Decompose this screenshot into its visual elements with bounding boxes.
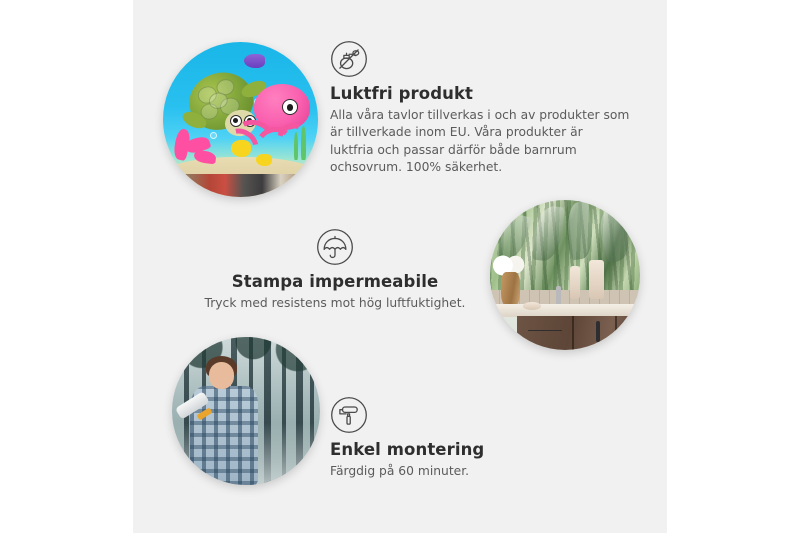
product-image-ocean-mural bbox=[163, 42, 318, 197]
faucet bbox=[556, 286, 561, 306]
fish-purple bbox=[244, 54, 266, 68]
forest-canopy bbox=[172, 337, 320, 393]
product-image-bathroom-palm-wallpaper bbox=[490, 200, 640, 350]
wood-vanity-cabinet bbox=[517, 316, 640, 351]
feature-body: Färgdig på 60 minuter. bbox=[330, 463, 590, 480]
feature-heading: Stampa impermeabile bbox=[200, 272, 470, 291]
feature-body: Tryck med resistens mot hög luftfuktighe… bbox=[200, 295, 470, 312]
soap-dish bbox=[523, 302, 541, 310]
feature-heading: Luktfri produkt bbox=[330, 84, 630, 103]
product-image-forest-installer bbox=[172, 337, 320, 485]
person-face bbox=[209, 362, 234, 389]
soap-dispenser bbox=[570, 266, 581, 299]
seaweed bbox=[294, 132, 298, 160]
ocean-foreground-strip bbox=[163, 174, 318, 197]
paint-roller-icon bbox=[330, 396, 368, 434]
feature-heading: Enkel montering bbox=[330, 440, 590, 459]
seaweed bbox=[301, 126, 306, 160]
feature-body: Alla våra tavlor tillverkas i och av pro… bbox=[330, 107, 630, 177]
feature-block-easy-mounting: Enkel montering Färgdig på 60 minuter. bbox=[330, 396, 590, 480]
drawer-handle bbox=[528, 330, 562, 331]
product-feature-panel: Luktfri produkt Alla våra tavlor tillver… bbox=[0, 0, 800, 533]
bubble-icon bbox=[210, 132, 217, 139]
feature-block-waterproof: Stampa impermeabile Tryck med resistens … bbox=[200, 228, 470, 312]
towel-roll bbox=[589, 260, 604, 299]
fish-yellow bbox=[231, 140, 251, 157]
fish-yellow bbox=[256, 154, 272, 166]
umbrella-icon bbox=[316, 228, 354, 266]
cabinet-handle bbox=[596, 321, 600, 342]
feature-block-odour-free: Luktfri produkt Alla våra tavlor tillver… bbox=[330, 40, 630, 177]
cabinet-handle bbox=[628, 320, 632, 341]
no-spray-bottle-icon bbox=[330, 40, 368, 78]
